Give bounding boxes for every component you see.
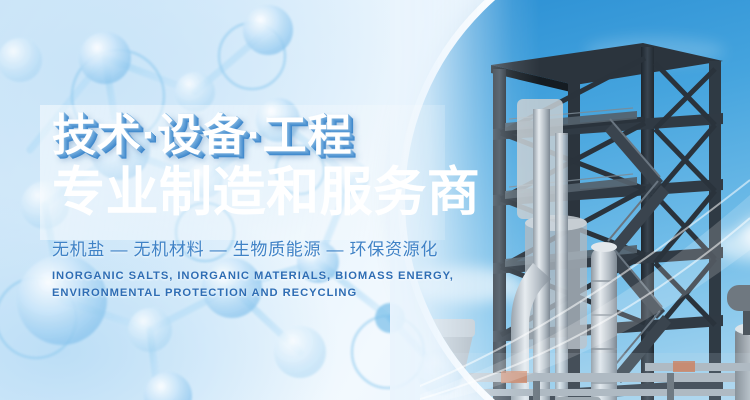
promotional-banner: 技术·设备·工程 专业制造和服务商 无机盐 — 无机材料 — 生物质能源 — 环… bbox=[0, 0, 750, 400]
subtitle-chinese: 无机盐 — 无机材料 — 生物质能源 — 环保资源化 bbox=[52, 235, 472, 260]
headline-line-2: 专业制造和服务商 bbox=[52, 166, 472, 219]
subtitle-english: INORGANIC SALTS, INORGANIC MATERIALS, BI… bbox=[52, 268, 460, 303]
banner-copy: 技术·设备·工程 专业制造和服务商 无机盐 — 无机材料 — 生物质能源 — 环… bbox=[52, 104, 472, 303]
headline-line-1: 技术·设备·工程 bbox=[52, 104, 472, 158]
